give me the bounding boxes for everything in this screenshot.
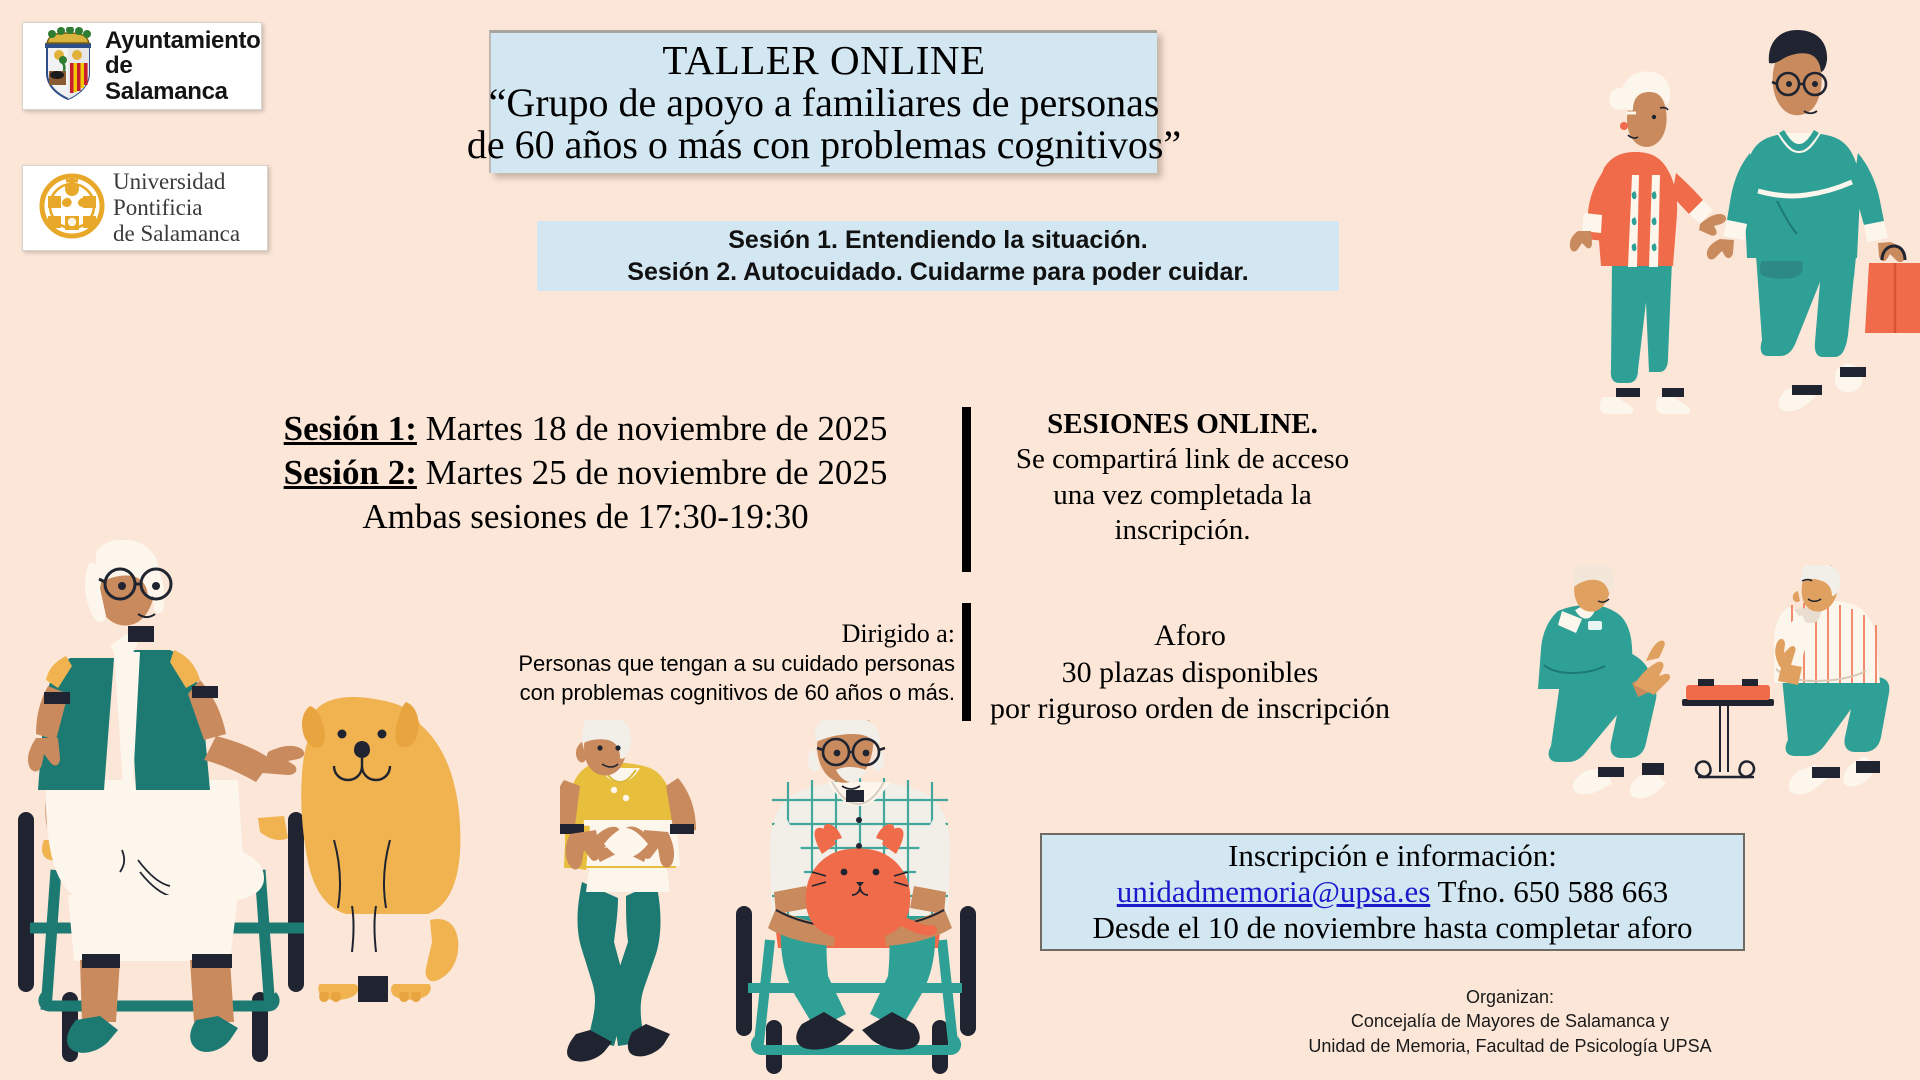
- logo-upsa-line1: Universidad: [113, 169, 225, 194]
- aforo-heading: Aforo: [990, 618, 1390, 655]
- logo-upsa-line3: de Salamanca: [113, 221, 240, 246]
- logo-ayuntamiento-text: Ayuntamiento de Salamanca: [105, 28, 261, 104]
- upsa-seal-icon: [39, 172, 105, 245]
- aforo-line-2: 30 plazas disponibles: [990, 655, 1390, 692]
- logo-ayuntamiento-salamanca: Ayuntamiento de Salamanca: [22, 22, 262, 110]
- illustration-elderly-woman-with-nurse: [1540, 5, 1920, 435]
- organizers-heading: Organizan:: [1290, 985, 1730, 1009]
- session-1-value: Martes 18 de noviembre de 2025: [417, 409, 887, 448]
- organizers-line-2: Concejalía de Mayores de Salamanca y: [1290, 1009, 1730, 1033]
- registration-phone: Tfno. 650 588 663: [1430, 874, 1668, 909]
- title-box: TALLER ONLINE “Grupo de apoyo a familiar…: [489, 30, 1157, 173]
- poster-canvas: Ayuntamiento de Salamanca: [0, 0, 1920, 1080]
- session-subtitle-2: Sesión 2. Autocuidado. Cuidarme para pod…: [627, 256, 1248, 288]
- dates-block: Sesión 1: Martes 18 de noviembre de 2025…: [233, 407, 938, 539]
- registration-heading: Inscripción e información:: [1228, 838, 1557, 874]
- registration-period: Desde el 10 de noviembre hasta completar…: [1093, 910, 1693, 946]
- session-1-label: Sesión 1:: [284, 409, 417, 448]
- logo-universidad-pontificia: Universidad Pontificia de Salamanca: [22, 165, 268, 251]
- dirigido-line-2: con problemas cognitivos de 60 años o má…: [455, 678, 955, 707]
- registration-box: Inscripción e información: unidadmemoria…: [1040, 833, 1745, 951]
- logo-ayto-line1: Ayuntamiento: [105, 27, 261, 54]
- illustration-woman-and-man-wheelchair-with-cat: [560, 720, 1000, 1075]
- logo-upsa-text: Universidad Pontificia de Salamanca: [113, 169, 240, 246]
- online-line-1: Se compartirá link de acceso: [990, 442, 1375, 477]
- session-subtitle-1: Sesión 1. Entendiendo la situación.: [728, 224, 1148, 256]
- date-session-1: Sesión 1: Martes 18 de noviembre de 2025: [233, 407, 938, 451]
- registration-email-link[interactable]: unidadmemoria@upsa.es: [1117, 874, 1431, 909]
- illustration-woman-wheelchair-with-dog: [10, 540, 500, 1075]
- session-2-value: Martes 25 de noviembre de 2025: [417, 453, 887, 492]
- dirigido-heading: Dirigido a:: [455, 618, 955, 649]
- online-sessions-block: SESIONES ONLINE. Se compartirá link de a…: [990, 407, 1375, 549]
- title-line-2: “Grupo de apoyo a familiares de personas: [489, 82, 1160, 124]
- registration-contact-line: unidadmemoria@upsa.es Tfno. 650 588 663: [1117, 874, 1668, 910]
- title-line-3: de 60 años o más con problemas cognitivo…: [467, 124, 1181, 166]
- online-line-3: inscripción.: [990, 513, 1375, 548]
- title-line-1: TALLER ONLINE: [662, 40, 985, 82]
- vertical-divider-bottom: [962, 603, 971, 721]
- online-heading: SESIONES ONLINE.: [990, 407, 1375, 442]
- logo-upsa-line2: Pontificia: [113, 195, 202, 220]
- organizers-line-3: Unidad de Memoria, Facultad de Psicologí…: [1290, 1034, 1730, 1058]
- target-audience-block: Dirigido a: Personas que tengan a su cui…: [455, 618, 955, 708]
- vertical-divider-top: [962, 407, 971, 572]
- capacity-block: Aforo 30 plazas disponibles por riguroso…: [990, 618, 1390, 728]
- session-2-label: Sesión 2:: [284, 453, 417, 492]
- schedule-line: Ambas sesiones de 17:30-19:30: [233, 495, 938, 539]
- salamanca-coat-of-arms-icon: [39, 27, 97, 106]
- illustration-nurse-with-elderly-man: [1530, 565, 1920, 820]
- date-session-2: Sesión 2: Martes 25 de noviembre de 2025: [233, 451, 938, 495]
- dirigido-line-1: Personas que tengan a su cuidado persona…: [455, 649, 955, 678]
- aforo-line-3: por riguroso orden de inscripción: [990, 691, 1390, 728]
- sessions-subtitle-box: Sesión 1. Entendiendo la situación. Sesi…: [537, 221, 1339, 291]
- online-line-2: una vez completada la: [990, 478, 1375, 513]
- organizers-block: Organizan: Concejalía de Mayores de Sala…: [1290, 985, 1730, 1058]
- logo-ayto-line2: de Salamanca: [105, 52, 228, 104]
